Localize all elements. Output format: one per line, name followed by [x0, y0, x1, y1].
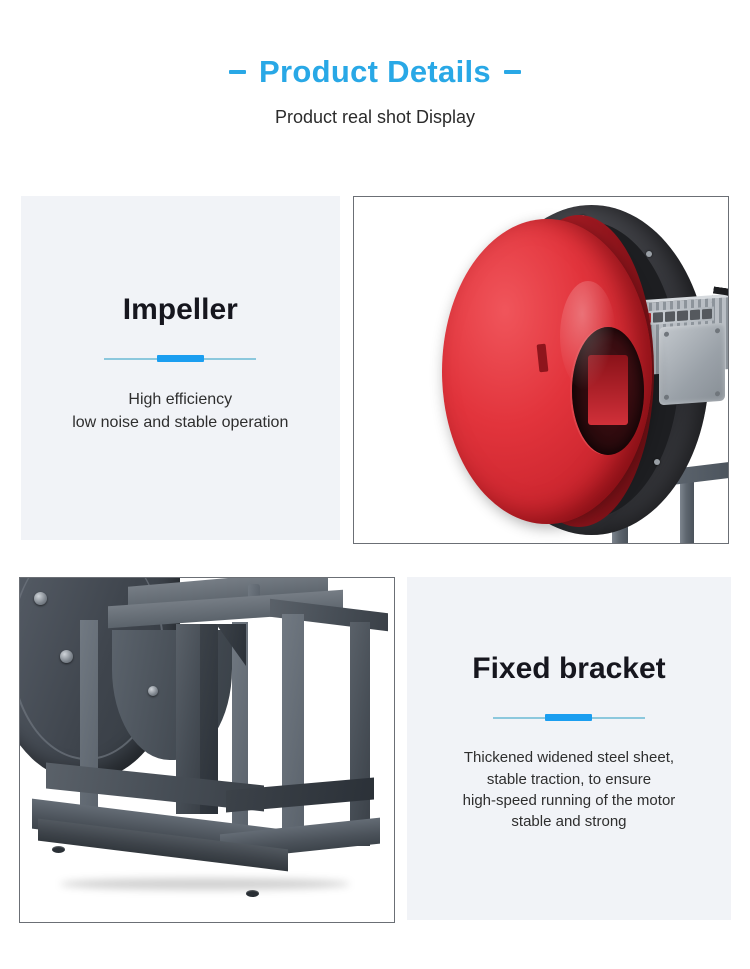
bracket-post-right-back: [350, 622, 370, 846]
anchor-hole: [52, 846, 65, 853]
impeller-photo: [353, 196, 729, 544]
fixed-bracket-photo-scene: [20, 578, 394, 922]
impeller-photo-scene: [354, 197, 728, 543]
bracket-post-left: [80, 620, 98, 832]
section-fixed-bracket: Fixed bracket Thickened widened steel sh…: [19, 577, 731, 923]
anchor-hole: [246, 890, 259, 897]
impeller-notch: [536, 344, 548, 373]
fixed-bracket-body-text: Thickened widened steel sheet, stable tr…: [463, 747, 676, 832]
impeller-info-card: Impeller High efficiency low noise and s…: [21, 196, 340, 540]
bracket-post-right-front: [282, 614, 304, 842]
page-header: Product Details Product real shot Displa…: [0, 0, 750, 126]
page-title-text: Product Details: [259, 56, 491, 87]
stand-leg-right: [680, 479, 694, 544]
housing-bolt: [654, 459, 660, 465]
fixed-bracket-heading: Fixed bracket: [472, 654, 665, 684]
housing-bolt: [34, 592, 47, 605]
title-dash-left-icon: [229, 70, 246, 74]
title-dash-right-icon: [504, 70, 521, 74]
motor-junction-box: [659, 323, 725, 406]
impeller-divider: [104, 355, 256, 362]
housing-bolt: [60, 650, 73, 663]
fixed-bracket-photo: [19, 577, 395, 923]
impeller-front-disc: [442, 219, 652, 524]
section-impeller: Impeller High efficiency low noise and s…: [21, 196, 729, 544]
fixed-bracket-info-card: Fixed bracket Thickened widened steel sh…: [407, 577, 731, 920]
fixed-bracket-divider: [493, 714, 645, 721]
ground-shadow: [60, 878, 350, 890]
drum-bolt: [148, 686, 158, 696]
divider-bar: [545, 714, 592, 721]
impeller-body-text: High efficiency low noise and stable ope…: [72, 389, 288, 434]
impeller-highlight: [560, 281, 616, 391]
impeller-heading: Impeller: [123, 295, 238, 325]
divider-bar: [157, 355, 204, 362]
page-subtitle: Product real shot Display: [0, 108, 750, 126]
housing-bolt: [646, 251, 652, 257]
page-title: Product Details: [0, 56, 750, 87]
